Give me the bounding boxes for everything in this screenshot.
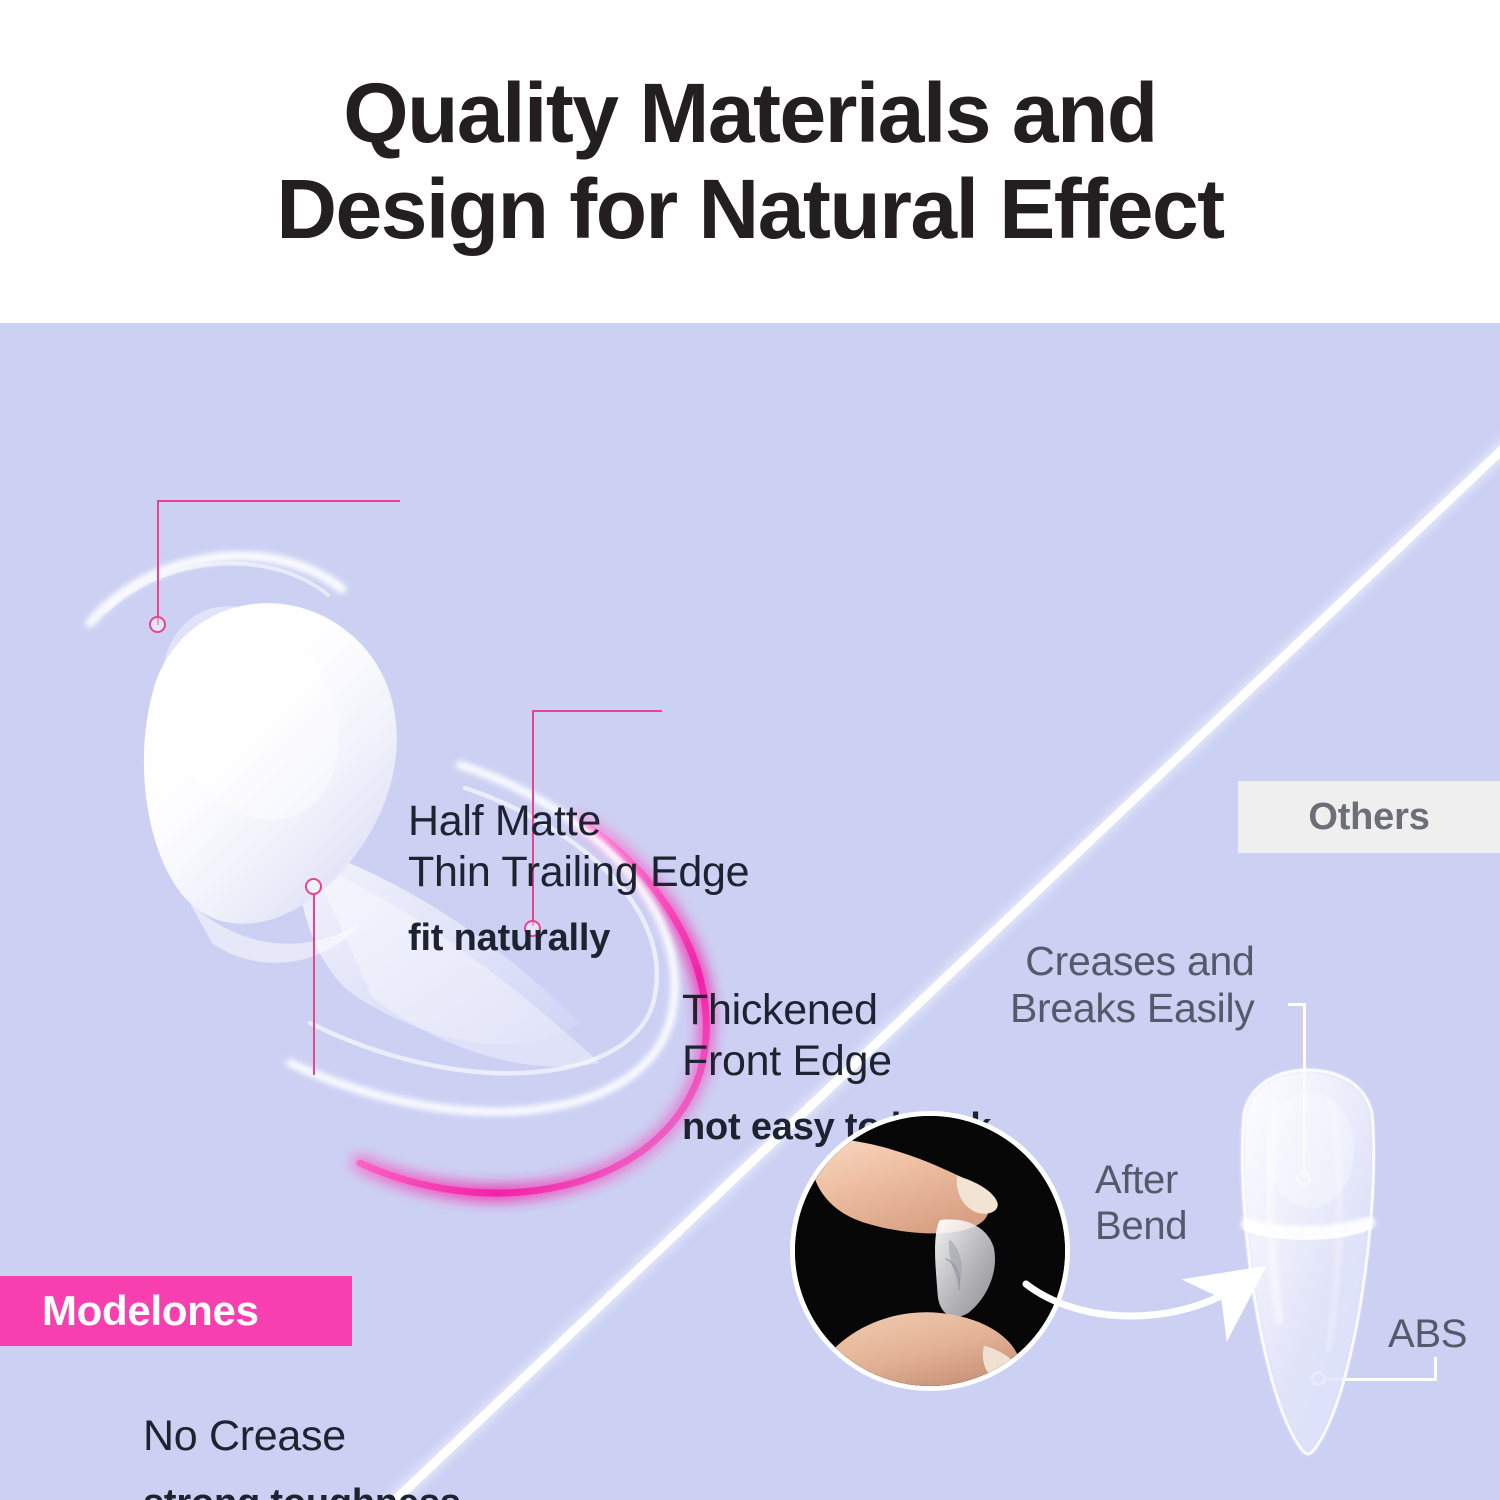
competitor-badge-others: Others: [1238, 781, 1500, 853]
callout-half-matte: Half Matte Thin Trailing Edge fit natura…: [408, 796, 749, 960]
callout-title-line-2: Front Edge: [682, 1036, 991, 1087]
brand-badge-label: Modelones: [42, 1287, 259, 1335]
bend-direction-arrow: [1020, 1218, 1310, 1368]
label-line-1: Creases and: [1010, 938, 1254, 985]
connector-horizontal-segment: [157, 500, 400, 502]
callout-subtitle: fit naturally: [408, 917, 749, 960]
marker-dot-half-matte: [149, 616, 166, 633]
label-line-1: After: [1095, 1158, 1187, 1204]
label-line-2: Breaks Easily: [1010, 985, 1254, 1032]
infographic-page: Quality Materials and Design for Natural…: [0, 0, 1500, 1500]
callout-title-line-1: Thickened: [682, 985, 991, 1036]
callout-title-line-2: Thin Trailing Edge: [408, 847, 749, 898]
connector-vertical-segment: [1434, 1357, 1437, 1380]
connector-horizontal-segment: [532, 710, 662, 712]
connector-vertical-segment: [313, 893, 315, 1075]
label-creases-and-breaks: Creases and Breaks Easily: [1010, 938, 1254, 1031]
competitor-badge-label: Others: [1308, 796, 1429, 839]
brand-badge-modelones: Modelones: [0, 1276, 352, 1346]
page-title-line-1: Quality Materials and: [343, 66, 1156, 162]
callout-subtitle: strong toughness: [143, 1482, 461, 1500]
callout-title-line-1: No Crease: [143, 1411, 461, 1462]
header-banner: Quality Materials and Design for Natural…: [0, 0, 1500, 323]
callout-title-line-1: Half Matte: [408, 796, 749, 847]
marker-dot-no-crease: [305, 878, 322, 895]
connector-vertical-segment: [157, 500, 159, 625]
page-title-line-2: Design for Natural Effect: [276, 162, 1223, 258]
connector-horizontal-segment: [1288, 1003, 1305, 1006]
label-abs-material: ABS: [1388, 1312, 1467, 1358]
callout-no-crease: No Crease strong toughness: [143, 1411, 461, 1500]
